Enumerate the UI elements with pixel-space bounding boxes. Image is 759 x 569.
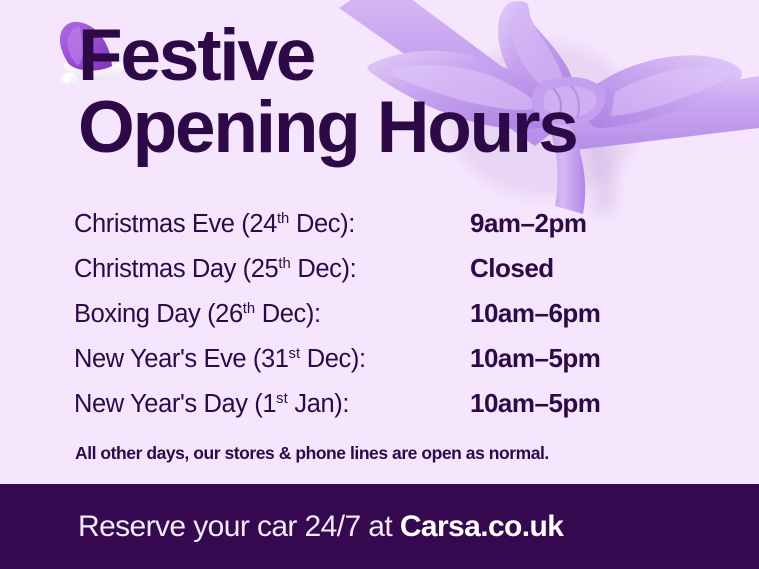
ordinal-suffix: st xyxy=(289,346,301,362)
ordinal-suffix: st xyxy=(276,391,288,407)
table-row: Christmas Day (25th Dec): Closed xyxy=(74,253,694,298)
day-hours-value: 9am–2pm xyxy=(470,208,586,239)
footer-band: Reserve your car 24/7 at Carsa.co.uk xyxy=(0,484,759,569)
festive-opening-hours-poster: Festive Opening Hours Christmas Eve (24t… xyxy=(0,0,759,569)
page-title: Festive Opening Hours xyxy=(78,20,577,165)
table-row: New Year's Eve (31st Dec): 10am–5pm xyxy=(74,343,694,388)
table-row: New Year's Day (1st Jan): 10am–5pm xyxy=(74,388,694,433)
day-label: Christmas Day (25th Dec): xyxy=(74,255,470,284)
day-hours-value: Closed xyxy=(470,253,554,284)
footer-cta-lead: Reserve your car 24/7 at xyxy=(78,510,400,543)
ordinal-suffix: th xyxy=(277,211,289,227)
day-hours-value: 10am–6pm xyxy=(470,298,600,329)
day-hours-value: 10am–5pm xyxy=(470,388,600,419)
brand-name: Carsa.co.uk xyxy=(400,510,563,543)
day-label: Boxing Day (26th Dec): xyxy=(74,300,470,329)
opening-hours-table: Christmas Eve (24th Dec): 9am–2pm Christ… xyxy=(74,208,694,433)
day-label: Christmas Eve (24th Dec): xyxy=(74,210,470,239)
ordinal-suffix: th xyxy=(278,256,290,272)
footer-cta: Reserve your car 24/7 at Carsa.co.uk xyxy=(78,510,563,544)
ordinal-suffix: th xyxy=(243,301,255,317)
day-label: New Year's Day (1st Jan): xyxy=(74,390,470,419)
table-row: Boxing Day (26th Dec): 10am–6pm xyxy=(74,298,694,343)
table-row: Christmas Eve (24th Dec): 9am–2pm xyxy=(74,208,694,253)
day-hours-value: 10am–5pm xyxy=(470,343,600,374)
footnote-text: All other days, our stores & phone lines… xyxy=(75,443,549,464)
day-label: New Year's Eve (31st Dec): xyxy=(74,345,470,374)
